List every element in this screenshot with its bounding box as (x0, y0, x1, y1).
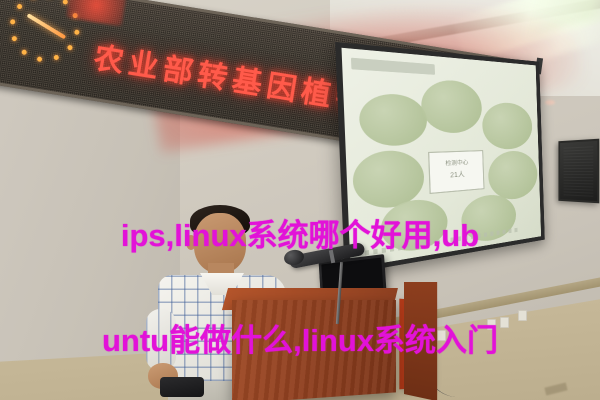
wall-speaker-unit (558, 139, 599, 204)
wall-outlet (487, 319, 496, 330)
presenter-left-arm (146, 309, 176, 371)
podium-wood-grain (232, 300, 396, 400)
led-clock-hand (27, 13, 67, 39)
slide-oval (420, 79, 482, 134)
screenshot-canvas: 农业部转基因植物 验测试中心（北京） 检测中心 21人 (0, 0, 600, 400)
slide-center-label-line1: 检测中心 (430, 158, 483, 171)
wall-outlet (518, 310, 527, 321)
presenter-belt-pouch (160, 377, 204, 397)
projection-slide: 检测中心 21人 (341, 48, 541, 269)
podium-front-panel (232, 300, 396, 400)
podium-side-panel (404, 282, 437, 400)
slide-oval (358, 93, 427, 147)
slide-oval (487, 150, 538, 202)
wall-outlet (500, 317, 509, 328)
projection-screen: 检测中心 21人 (335, 42, 545, 275)
ceiling-downlight (545, 100, 555, 105)
slide-title-bar (351, 58, 435, 75)
slide-oval (482, 102, 533, 150)
slide-center-label-line2: 21人 (430, 170, 483, 184)
presenter-ear (186, 235, 196, 250)
slide-center-label: 检测中心 21人 (428, 150, 484, 194)
